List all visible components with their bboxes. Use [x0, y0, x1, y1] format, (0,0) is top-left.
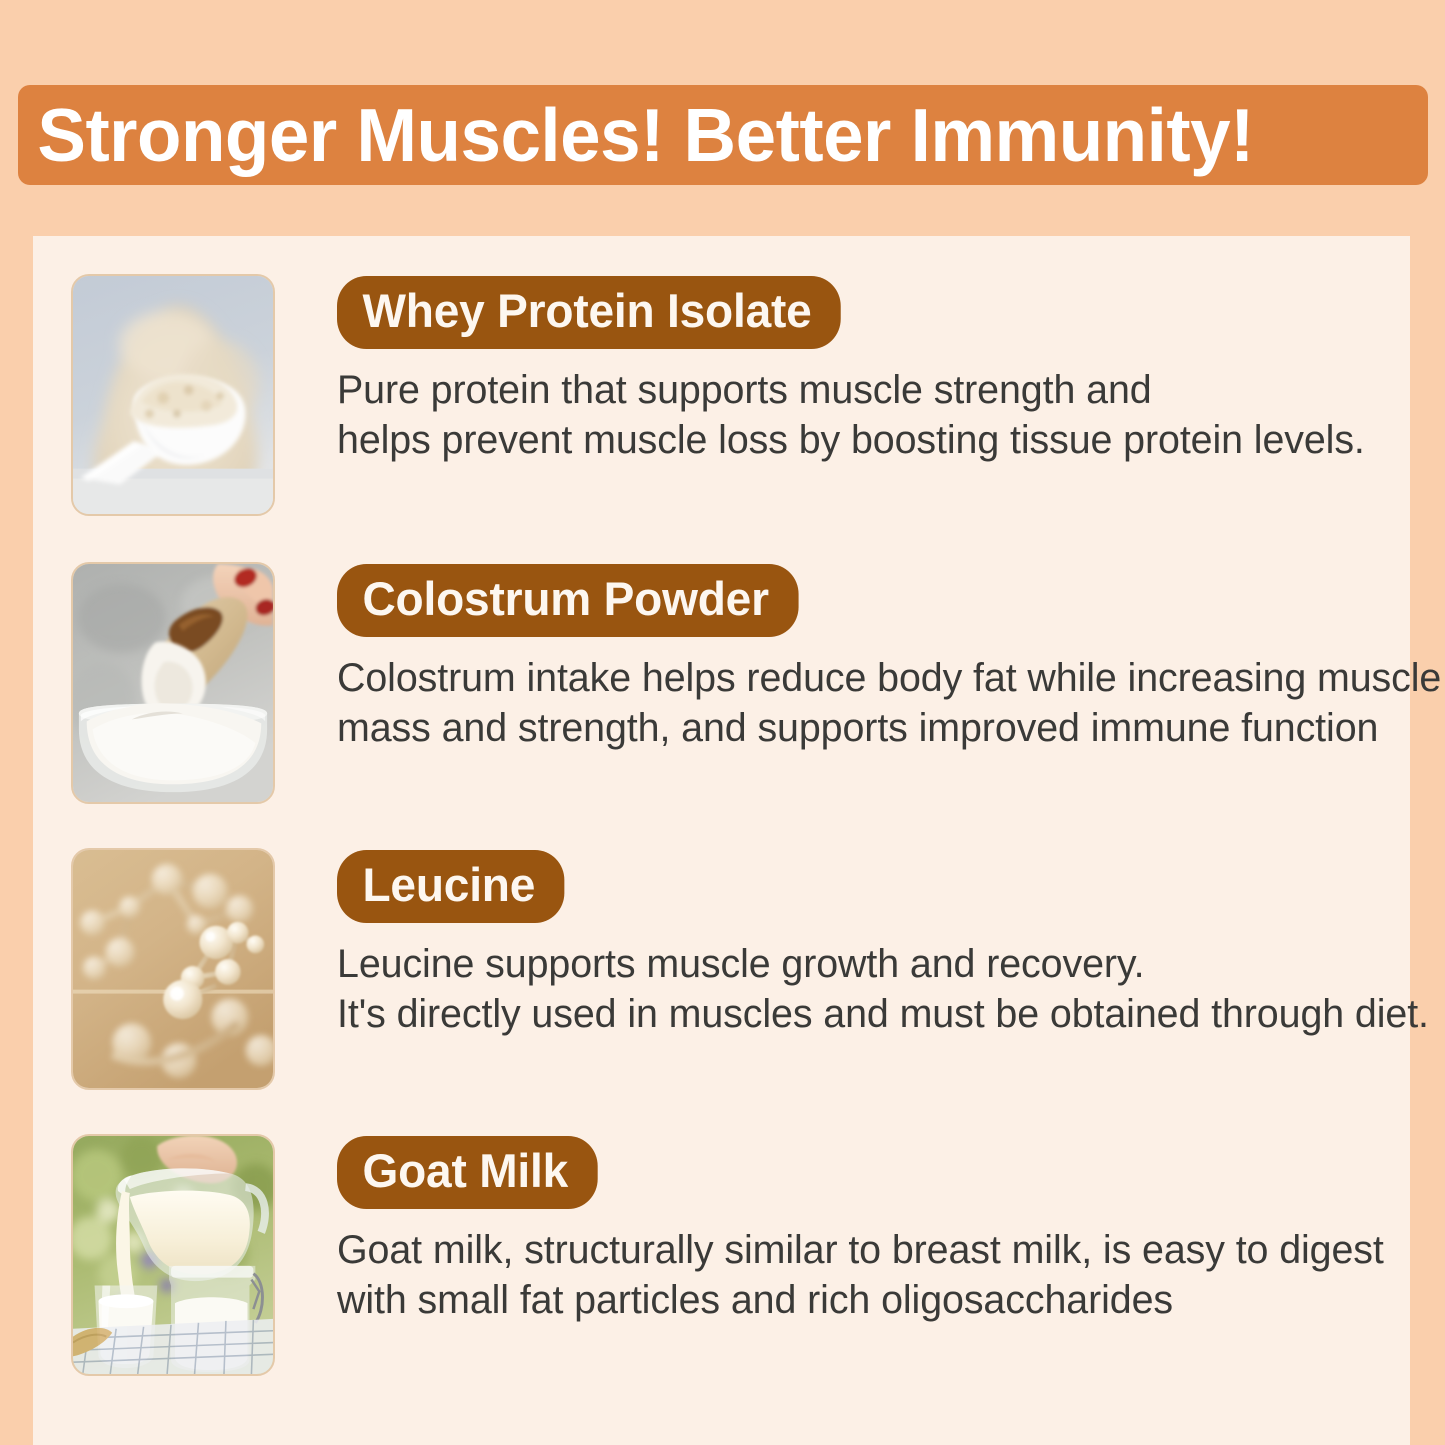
ingredient-text-colostrum-powder: Colostrum Powder Colostrum intake helps …: [337, 562, 1445, 754]
ingredient-item-whey-protein-isolate: Whey Protein Isolate Pure protein that s…: [33, 274, 1410, 516]
ingredient-text-whey-protein-isolate: Whey Protein Isolate Pure protein that s…: [337, 274, 1410, 466]
description-line: Goat milk, structurally similar to breas…: [337, 1225, 1394, 1275]
page-title: Stronger Muscles! Better Immunity!: [18, 98, 1254, 173]
infographic-page: Stronger Muscles! Better Immunity!: [0, 0, 1445, 1445]
description-line: with small fat particles and rich oligos…: [337, 1275, 1394, 1325]
description-line: It's directly used in muscles and must b…: [337, 989, 1429, 1039]
colostrum-powder-wooden-scoop-photo: [71, 562, 275, 804]
description-line: Pure protein that supports muscle streng…: [337, 365, 1394, 415]
ingredient-item-colostrum-powder: Colostrum Powder Colostrum intake helps …: [33, 562, 1410, 804]
description-line: Leucine supports muscle growth and recov…: [337, 939, 1429, 989]
ingredient-title-whey-protein-isolate: Whey Protein Isolate: [337, 276, 841, 349]
ingredient-description-goat-milk: Goat milk, structurally similar to breas…: [337, 1225, 1394, 1326]
ingredient-item-goat-milk: Goat Milk Goat milk, structurally simila…: [33, 1134, 1410, 1376]
description-line: helps prevent muscle loss by boosting ti…: [337, 415, 1394, 465]
leucine-molecule-structure-photo: [71, 848, 275, 1090]
ingredient-title-colostrum-powder: Colostrum Powder: [337, 564, 798, 637]
ingredient-title-leucine: Leucine: [337, 850, 565, 923]
description-line: mass and strength, and supports improved…: [337, 703, 1441, 753]
ingredient-text-leucine: Leucine Leucine supports muscle growth a…: [337, 848, 1445, 1040]
goat-milk-pouring-pitcher-photo: [71, 1134, 275, 1376]
ingredient-list: Whey Protein Isolate Pure protein that s…: [33, 236, 1410, 1445]
header-banner: Stronger Muscles! Better Immunity!: [18, 85, 1428, 185]
ingredient-description-whey-protein-isolate: Pure protein that supports muscle streng…: [337, 365, 1394, 466]
ingredient-description-leucine: Leucine supports muscle growth and recov…: [337, 939, 1429, 1040]
ingredient-item-leucine: Leucine Leucine supports muscle growth a…: [33, 848, 1410, 1090]
ingredients-panel: Whey Protein Isolate Pure protein that s…: [33, 236, 1410, 1445]
ingredient-description-colostrum-powder: Colostrum intake helps reduce body fat w…: [337, 653, 1441, 754]
description-line: Colostrum intake helps reduce body fat w…: [337, 653, 1441, 703]
whey-protein-powder-scoop-photo: [71, 274, 275, 516]
ingredient-title-goat-milk: Goat Milk: [337, 1136, 597, 1209]
ingredient-text-goat-milk: Goat Milk Goat milk, structurally simila…: [337, 1134, 1410, 1326]
